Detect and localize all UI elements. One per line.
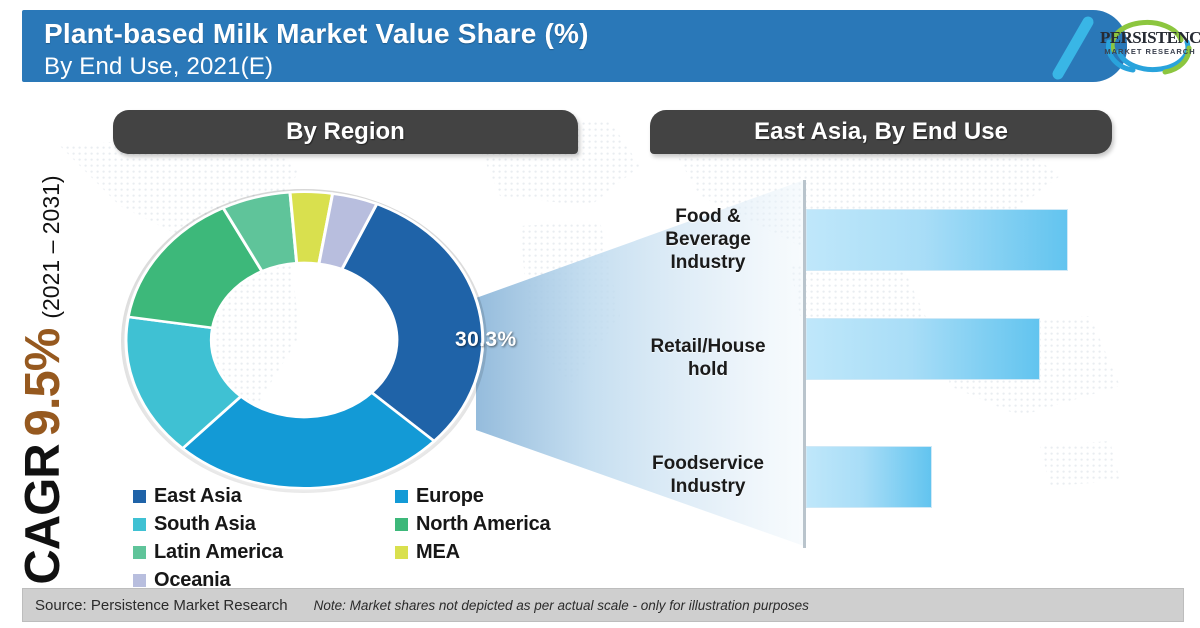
legend-swatch-icon [395,518,408,531]
bar-food-and-beverage-industry [806,209,1068,271]
bar-retail-household [806,318,1040,380]
bar-label-line: Food & [608,205,808,228]
bar-label-line: Retail/House [608,335,808,358]
donut-legend: East Asia Europe South Asia North Americ… [133,484,603,593]
legend-item-mea[interactable]: MEA [395,540,603,565]
legend-swatch-icon [133,490,146,503]
panel-title-by-region-label: By Region [286,118,405,146]
panel-title-by-region: By Region [113,110,578,154]
legend-label: East Asia [154,485,242,508]
cagr-prefix: CAGR [15,444,71,584]
panel-title-east-asia-label: East Asia, By End Use [754,118,1008,146]
page-subtitle: By End Use, 2021(E) [44,51,1127,83]
legend-label: Europe [416,485,484,508]
panel-title-east-asia-by-end-use: East Asia, By End Use [650,110,1112,154]
legend-label: Latin America [154,541,283,564]
cagr-value: 9.5% [15,329,71,437]
page-title: Plant-based Milk Market Value Share (%) [44,17,1127,51]
legend-swatch-icon [395,490,408,503]
bar-label-foodservice-industry: Foodservice Industry [608,452,808,498]
cagr-annotation: CAGR 9.5% (2021 – 2031) [15,150,85,610]
bar-label-food-and-beverage-industry: Food & Beverage Industry [608,205,808,274]
legend-item-north-america[interactable]: North America [395,512,603,537]
legend-swatch-icon [133,546,146,559]
legend-label: North America [416,513,550,536]
legend-swatch-icon [395,546,408,559]
header-title-bar: Plant-based Milk Market Value Share (%) … [22,10,1127,82]
legend-item-east-asia[interactable]: East Asia [133,484,395,509]
bar-label-line: Industry [608,475,808,498]
bar-label-retail-household: Retail/House hold [608,335,808,381]
bar-label-line: Industry [608,251,808,274]
bar-label-line: Beverage [608,228,808,251]
legend-item-europe[interactable]: Europe [395,484,603,509]
legend-item-south-asia[interactable]: South Asia [133,512,395,537]
cagr-period: (2021 – 2031) [38,175,65,318]
infographic-canvas: Plant-based Milk Market Value Share (%) … [0,0,1200,628]
legend-item-latin-america[interactable]: Latin America [133,540,395,565]
footer-note: Note: Market shares not depicted as per … [314,598,809,613]
donut-chart-by-region [118,185,490,495]
legend-swatch-icon [133,574,146,587]
donut-value-label-east-asia: 30.3% [455,328,517,352]
legend-label: MEA [416,541,460,564]
legend-swatch-icon [133,518,146,531]
logo-wordmark: PERSISTENCE [1100,28,1200,48]
bar-foodservice-industry [806,446,932,508]
footer-source: Source: Persistence Market Research [35,597,288,614]
bar-label-line: hold [608,358,808,381]
logo-tagline: MARKET RESEARCH [1100,47,1200,56]
bar-label-line: Foodservice [608,452,808,475]
footer-bar: Source: Persistence Market Research Note… [22,588,1184,622]
legend-label: South Asia [154,513,256,536]
logo-slash-icon [1022,14,1102,82]
